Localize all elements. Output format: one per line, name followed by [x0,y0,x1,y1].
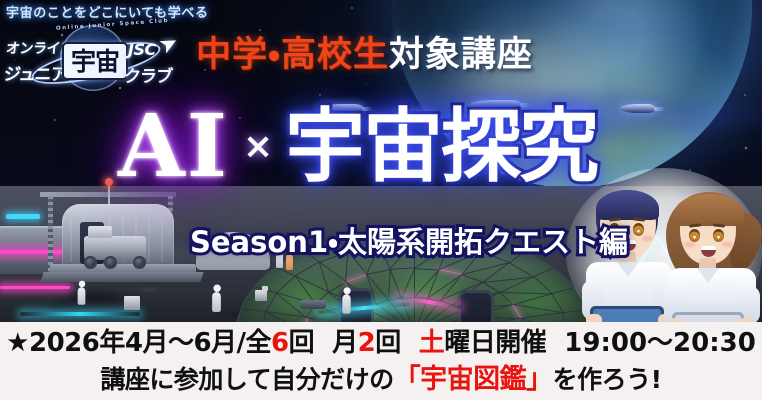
neon-light-streak [20,312,140,316]
girl-bangs [674,194,744,226]
monthly-count: 2 [358,328,376,358]
audience-highlight: 中学・高校生 [196,35,389,75]
times-symbol-icon: × [243,129,273,165]
total-sessions-unit: 回 [289,328,315,358]
girl-eye [713,229,724,242]
course-period: 2026年4月〜6月/全 [29,328,271,358]
girl-blush [684,242,695,247]
supply-crate [124,296,140,310]
astronaut-figure [342,294,350,313]
weekday-rest: 曜日開催 [444,328,546,358]
rocket-icon: ➤ [156,31,183,59]
gantry-tower [48,196,53,272]
season-subtitle: Season1・太陽系開拓クエスト編 [190,219,628,261]
monthly-unit: 回 [375,328,401,358]
cta-line: 講座に参加して自分だけの「宇宙図鑑」を作ろう! [0,364,762,396]
boy-collar [617,262,639,277]
girl-collar [697,268,719,283]
boy-blush [642,236,653,241]
star-icon: ★ [6,328,29,358]
audience-headline: 中学・高校生対象講座 [196,38,533,73]
brand-logo[interactable]: Online Junior Space Club オンライン ジュニア 宇宙 J… [4,26,194,92]
cta-suffix: を作ろう! [553,365,662,394]
spacecraft-icon [620,104,656,113]
supply-crate [262,286,268,291]
total-sessions-count: 6 [271,328,289,358]
space-course-poster: 宇宙のことをどこにいても学べる Online Junior Space Club… [0,0,762,400]
boy-hair-front [596,190,659,220]
supply-crate [300,300,326,309]
logo-jsc-abbrev: JSC [128,40,156,59]
girl-eye [689,229,700,242]
rover-wheel [133,256,146,269]
logo-center-word: 宇宙 [62,42,128,80]
boy-eye [633,223,644,236]
rover-wheel [84,256,97,269]
astronaut-figure [212,292,221,312]
logo-club-word: クラブ [123,62,174,87]
title-ai: AI [118,104,229,190]
tagline: 宇宙のことをどこにいても学べる [6,2,209,21]
schedule-line: ★2026年4月〜6月/全6回月2回土曜日開催19:00〜20:30 [0,328,762,359]
logo-line2: ジュニア [3,60,68,85]
cta-prefix: 講座に参加して自分だけの [100,365,393,394]
astronaut-figure [78,287,86,305]
girl-blush [722,242,733,247]
antenna-icon [108,182,110,204]
habitat-neon-strip [0,286,70,289]
weekday-highlight: 土 [419,328,445,358]
class-time: 19:00〜20:30 [564,328,756,358]
main-title: AI × 宇宙探究 [118,104,597,190]
title-japanese: 宇宙探究 [285,107,597,187]
habitat-neon-strip [6,214,40,219]
audience-rest: 対象講座 [389,35,533,75]
cta-highlight: 「宇宙図鑑」 [394,364,553,395]
course-info-bar: ★2026年4月〜6月/全6回月2回土曜日開催19:00〜20:30 講座に参加… [0,322,762,400]
lunar-rover-cab [88,226,112,238]
habitat-ramp [40,272,203,282]
supply-crate [255,290,267,301]
rover-wheel [104,256,117,269]
monthly-prefix: 月 [332,328,358,358]
